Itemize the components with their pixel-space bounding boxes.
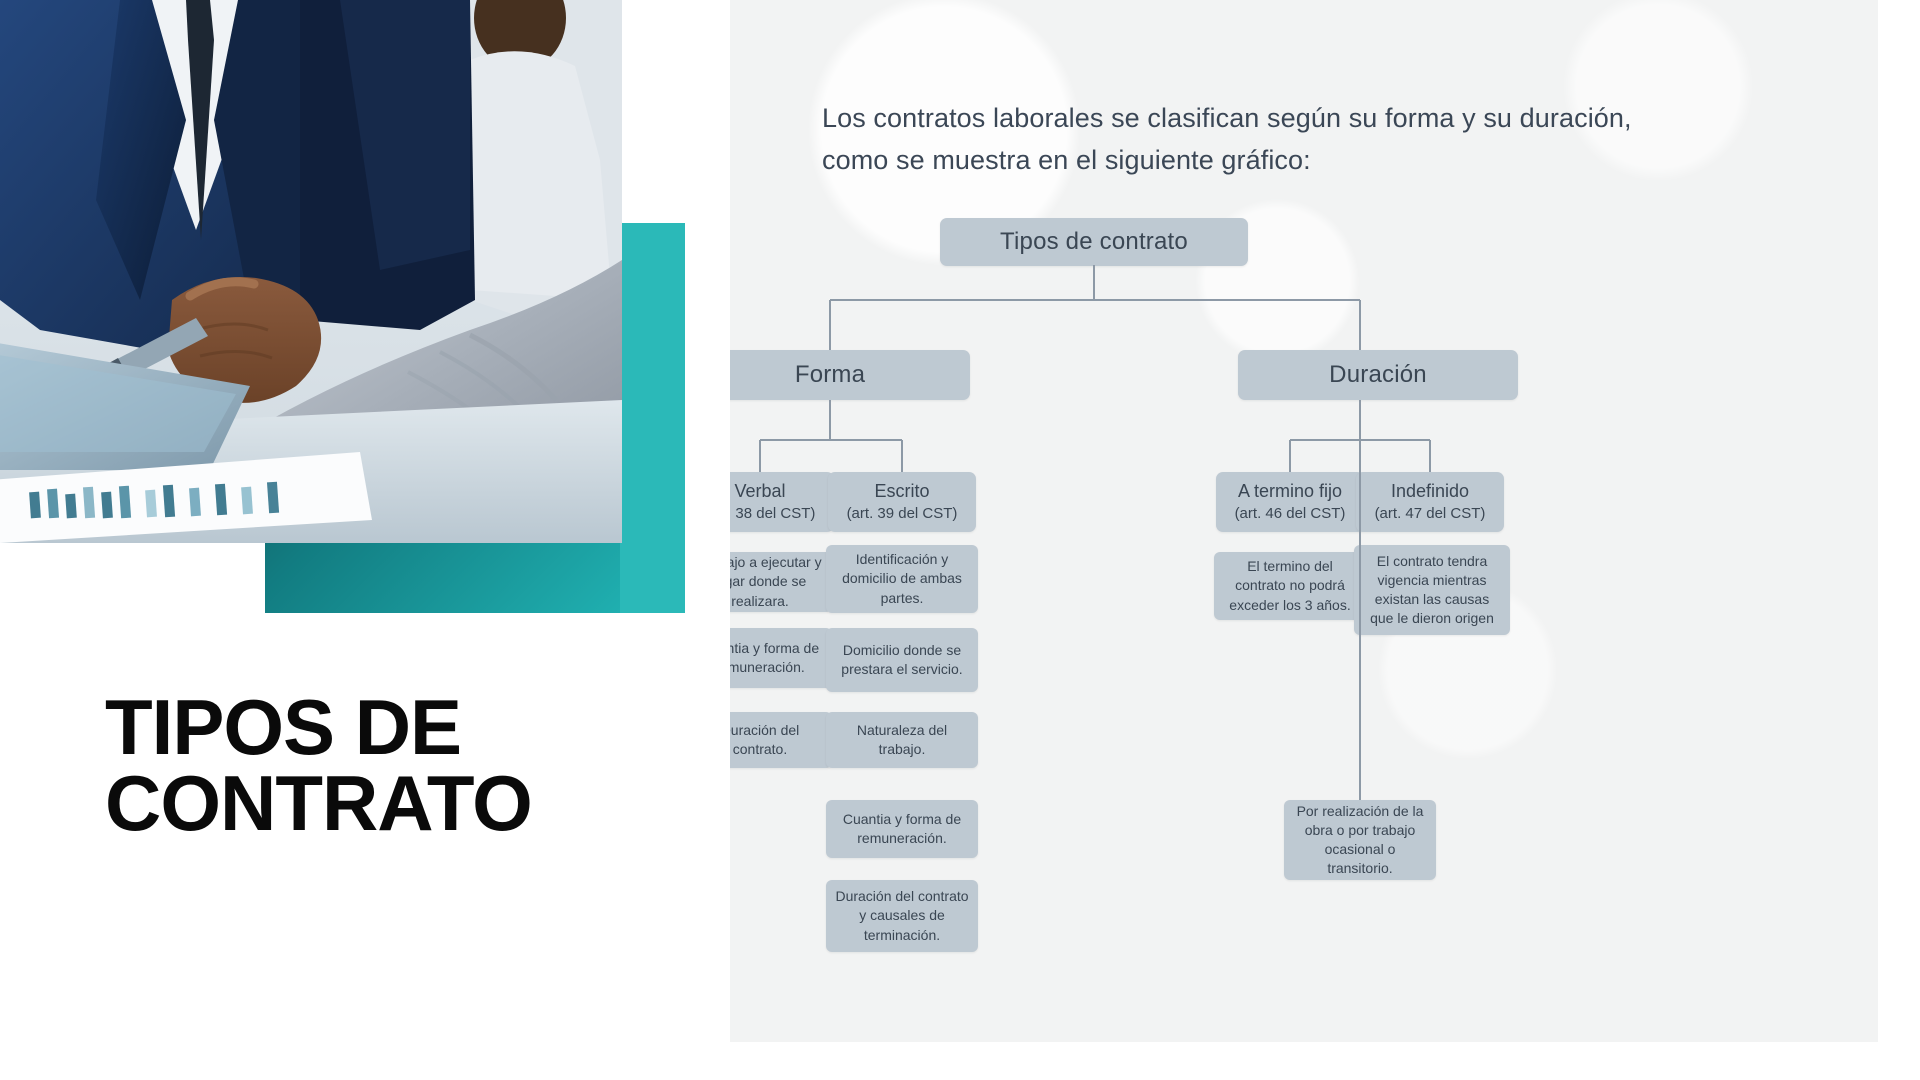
title-line-2: CONTRATO [105, 766, 705, 842]
slide-root: TIPOS DE CONTRATO Los contratos laborale… [0, 0, 1920, 1080]
node-termino-fijo-sub: (art. 46 del CST) [1235, 504, 1346, 523]
leaf-termino-fijo-0[interactable]: El termino del contrato no podrá exceder… [1214, 552, 1366, 620]
node-escrito-sub: (art. 39 del CST) [847, 504, 958, 523]
node-verbal[interactable]: Verbal (art. 38 del CST) [730, 472, 834, 532]
leaf-verbal-1[interactable]: Cuantia y forma de remuneración. [730, 628, 832, 688]
page-title: TIPOS DE CONTRATO [105, 690, 705, 841]
node-forma-label: Forma [795, 361, 865, 389]
node-root[interactable]: Tipos de contrato [940, 218, 1248, 266]
leaf-escrito-2-text: Naturaleza del trabajo. [835, 721, 969, 759]
leaf-termino-fijo-0-text: El termino del contrato no podrá exceder… [1223, 557, 1357, 614]
right-white-edge [1878, 0, 1920, 1080]
node-termino-fijo-label: A termino fijo [1238, 480, 1342, 503]
node-escrito[interactable]: Escrito (art. 39 del CST) [828, 472, 976, 532]
node-indefinido-sub: (art. 47 del CST) [1375, 504, 1486, 523]
leaf-escrito-4-text: Duración del contrato y causales de term… [835, 887, 969, 944]
node-forma[interactable]: Forma [730, 350, 970, 400]
leaf-verbal-2[interactable]: Duración del contrato. [730, 712, 832, 768]
node-root-label: Tipos de contrato [1000, 228, 1188, 256]
leaf-indefinido-0[interactable]: El contrato tendra vigencia mientras exi… [1354, 545, 1510, 635]
node-escrito-label: Escrito [874, 480, 929, 503]
leaf-escrito-2[interactable]: Naturaleza del trabajo. [826, 712, 978, 768]
leaf-duracion-extra-0[interactable]: Por realización de la obra o por trabajo… [1284, 800, 1436, 880]
leaf-verbal-1-text: Cuantia y forma de remuneración. [730, 639, 823, 677]
node-termino-fijo[interactable]: A termino fijo (art. 46 del CST) [1216, 472, 1364, 532]
bottom-white-edge [730, 1042, 1920, 1080]
leaf-verbal-0-text: Trabajo a ejecutar y lugar donde se real… [730, 553, 823, 610]
leaf-verbal-0[interactable]: Trabajo a ejecutar y lugar donde se real… [730, 552, 832, 612]
intro-paragraph: Los contratos laborales se clasifican se… [822, 98, 1692, 182]
left-panel: TIPOS DE CONTRATO [0, 0, 730, 1080]
node-verbal-label: Verbal [734, 480, 785, 503]
leaf-escrito-1-text: Domicilio donde se prestara el servicio. [835, 641, 969, 679]
leaf-escrito-0[interactable]: Identificación y domicilio de ambas part… [826, 545, 978, 613]
leaf-duracion-extra-0-text: Por realización de la obra o por trabajo… [1293, 802, 1427, 878]
photo-artwork [0, 0, 622, 543]
leaf-escrito-1[interactable]: Domicilio donde se prestara el servicio. [826, 628, 978, 692]
title-line-1: TIPOS DE [105, 690, 705, 766]
node-indefinido-label: Indefinido [1391, 480, 1469, 503]
leaf-escrito-0-text: Identificación y domicilio de ambas part… [835, 550, 969, 607]
node-verbal-sub: (art. 38 del CST) [730, 504, 815, 523]
node-duracion[interactable]: Duración [1238, 350, 1518, 400]
leaf-escrito-4[interactable]: Duración del contrato y causales de term… [826, 880, 978, 952]
node-duracion-label: Duración [1329, 361, 1427, 389]
business-meeting-photo [0, 0, 622, 543]
node-indefinido[interactable]: Indefinido (art. 47 del CST) [1356, 472, 1504, 532]
right-panel: Los contratos laborales se clasifican se… [730, 0, 1920, 1080]
leaf-indefinido-0-text: El contrato tendra vigencia mientras exi… [1363, 552, 1501, 628]
leaf-escrito-3[interactable]: Cuantia y forma de remuneración. [826, 800, 978, 858]
leaf-verbal-2-text: Duración del contrato. [730, 721, 823, 759]
teal-accent-bar [620, 223, 685, 613]
leaf-escrito-3-text: Cuantia y forma de remuneración. [835, 810, 969, 848]
